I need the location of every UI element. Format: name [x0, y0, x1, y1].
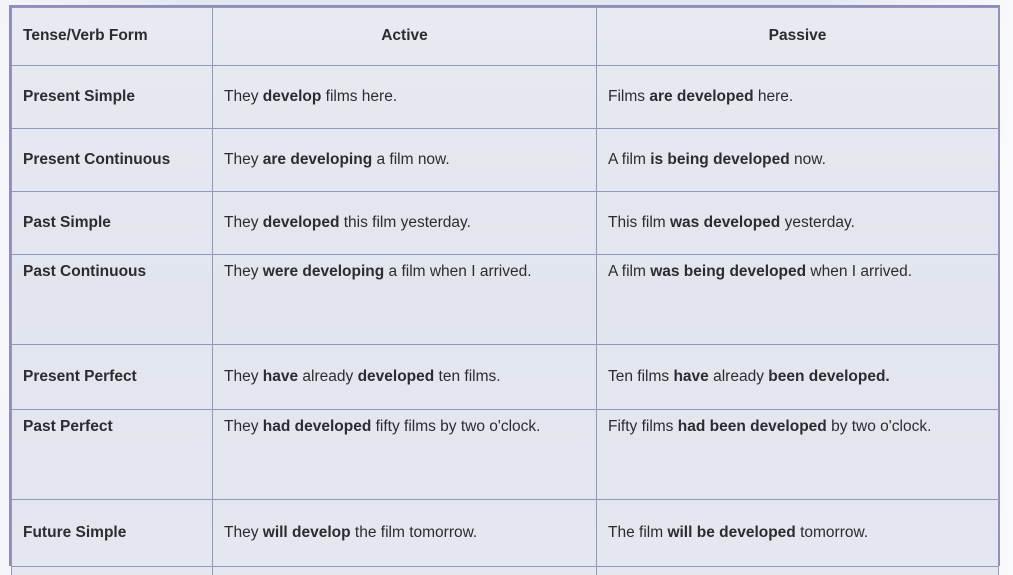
cell-active-present-continuous: They are developing a film now.: [213, 129, 597, 192]
text-bold: developed: [263, 214, 340, 231]
cell-active-past-perfect: They had developed fifty films by two o'…: [213, 410, 597, 500]
table-row: Present Simple They develop films here. …: [12, 66, 999, 129]
cell-tense-past-perfect: Past Perfect: [12, 410, 213, 500]
text-bold: will be developed: [667, 524, 795, 541]
text-post: ten films.: [434, 368, 500, 385]
text-post: a film when I arrived.: [384, 263, 531, 280]
cell-passive-future-simple: The film will be developed tomorrow.: [597, 500, 999, 567]
cell-passive-present-perfect: Ten films have already been developed.: [597, 345, 999, 410]
text-mid: already: [709, 368, 768, 385]
column-header-active: Active: [213, 8, 597, 66]
cell-active-past-simple: They developed this film yesterday.: [213, 192, 597, 255]
cell-active-conditionals: They would develop the film if they had …: [213, 567, 597, 575]
table-row: Past Simple They developed this film yes…: [12, 192, 999, 255]
cell-passive-present-simple: Films are developed here.: [597, 66, 999, 129]
cell-passive-past-perfect: Fifty films had been developed by two o'…: [597, 410, 999, 500]
text-bold: develop: [263, 88, 322, 105]
text-pre: They: [224, 524, 263, 541]
table-row: Future Simple They will develop the film…: [12, 500, 999, 567]
cell-active-past-continuous: They were developing a film when I arriv…: [213, 255, 597, 345]
table-header-row: Tense/Verb Form Active Passive: [12, 8, 999, 66]
text-post: a film now.: [372, 151, 450, 168]
text-post: yesterday.: [780, 214, 855, 231]
table-row: Past Perfect They had developed fifty fi…: [12, 410, 999, 500]
text-post: here.: [754, 88, 794, 105]
text-pre: They: [224, 214, 263, 231]
text-bold: have: [673, 368, 708, 385]
text-post: fifty films by two o'clock.: [371, 418, 540, 435]
text-pre: Fifty films: [608, 418, 678, 435]
cell-active-present-simple: They develop films here.: [213, 66, 597, 129]
cell-tense-past-continuous: Past Continuous: [12, 255, 213, 345]
cell-passive-present-continuous: A film is being developed now.: [597, 129, 999, 192]
text-bold: are developed: [649, 88, 753, 105]
text-bold: will develop: [263, 524, 351, 541]
text-post: films here.: [321, 88, 397, 105]
table-row: Present Continuous They are developing a…: [12, 129, 999, 192]
cell-tense-past-simple: Past Simple: [12, 192, 213, 255]
cell-tense-conditionals: Conditionals: [12, 567, 213, 575]
table-row: Present Perfect They have already develo…: [12, 345, 999, 410]
text-bold: are developing: [263, 151, 372, 168]
text-pre: A film: [608, 151, 650, 168]
cell-tense-present-simple: Present Simple: [12, 66, 213, 129]
cell-passive-past-simple: This film was developed yesterday.: [597, 192, 999, 255]
text-post: tomorrow.: [796, 524, 868, 541]
text-post: this film yesterday.: [339, 214, 471, 231]
text-bold: was being developed: [650, 263, 806, 280]
text-bold: is being developed: [650, 151, 790, 168]
text-bold: have: [263, 368, 298, 385]
text-pre: They: [224, 263, 263, 280]
cell-passive-past-continuous: A film was being developed when I arrive…: [597, 255, 999, 345]
cell-tense-present-continuous: Present Continuous: [12, 129, 213, 192]
cell-tense-present-perfect: Present Perfect: [12, 345, 213, 410]
column-header-tense: Tense/Verb Form: [12, 8, 213, 66]
table-row: Conditionals They would develop the film…: [12, 567, 999, 575]
text-bold: had been developed: [678, 418, 827, 435]
table-header: Tense/Verb Form Active Passive: [12, 8, 999, 66]
text-pre: The film: [608, 524, 667, 541]
text-pre: Films: [608, 88, 649, 105]
column-header-passive: Passive: [597, 8, 999, 66]
text-post: when I arrived.: [806, 263, 912, 280]
text-pre: They: [224, 418, 263, 435]
text-mid: already: [298, 368, 357, 385]
text-post: by two o'clock.: [827, 418, 932, 435]
text-post: the film tomorrow.: [351, 524, 478, 541]
table-body: Present Simple They develop films here. …: [12, 66, 999, 575]
cell-tense-future-simple: Future Simple: [12, 500, 213, 567]
text-pre: Ten films: [608, 368, 673, 385]
text-bold-2: been developed.: [768, 368, 889, 385]
page-background: Tense/Verb Form Active Passive Present S…: [0, 0, 1013, 575]
text-pre: This film: [608, 214, 670, 231]
text-pre: A film: [608, 263, 650, 280]
text-bold: had developed: [263, 418, 372, 435]
text-pre: They: [224, 88, 263, 105]
text-pre: They: [224, 368, 263, 385]
text-pre: They: [224, 151, 263, 168]
cell-active-future-simple: They will develop the film tomorrow.: [213, 500, 597, 567]
table-row: Past Continuous They were developing a f…: [12, 255, 999, 345]
cell-active-present-perfect: They have already developed ten films.: [213, 345, 597, 410]
text-bold: were developing: [263, 263, 384, 280]
text-post: now.: [790, 151, 826, 168]
text-bold: was developed: [670, 214, 780, 231]
cell-passive-conditionals: The film would be developed if they had …: [597, 567, 999, 575]
grammar-table-container: Tense/Verb Form Active Passive Present S…: [9, 5, 1000, 566]
text-bold-2: developed: [358, 368, 435, 385]
active-passive-voice-table: Tense/Verb Form Active Passive Present S…: [11, 7, 999, 575]
